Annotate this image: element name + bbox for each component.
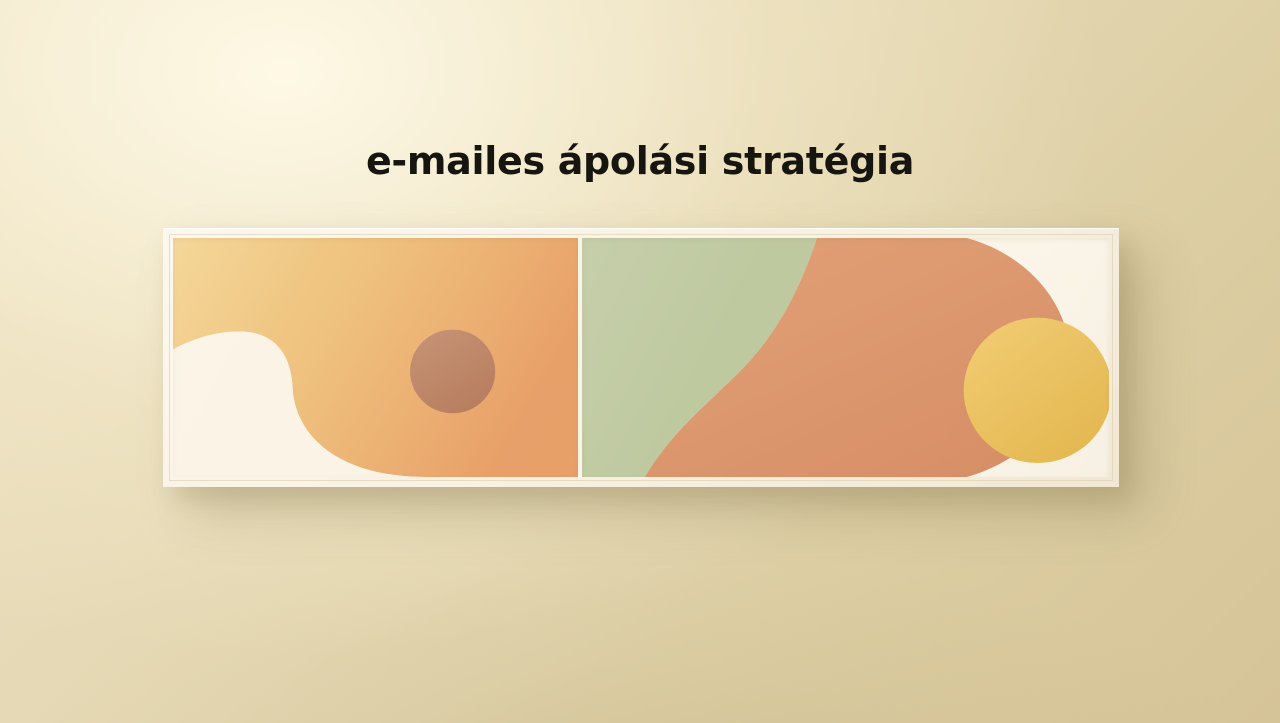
slide-canvas: e-mailes ápolási stratégia — [0, 0, 1280, 723]
terracotta-circle — [410, 330, 495, 414]
left-panel — [173, 238, 578, 477]
artwork-canvas — [173, 238, 1109, 477]
golden-circle — [964, 318, 1109, 463]
left-panel-art — [173, 238, 578, 477]
page-title: e-mailes ápolási stratégia — [0, 139, 1280, 183]
right-panel — [582, 238, 1109, 477]
right-panel-art — [582, 238, 1109, 477]
artwork-frame — [163, 228, 1119, 487]
